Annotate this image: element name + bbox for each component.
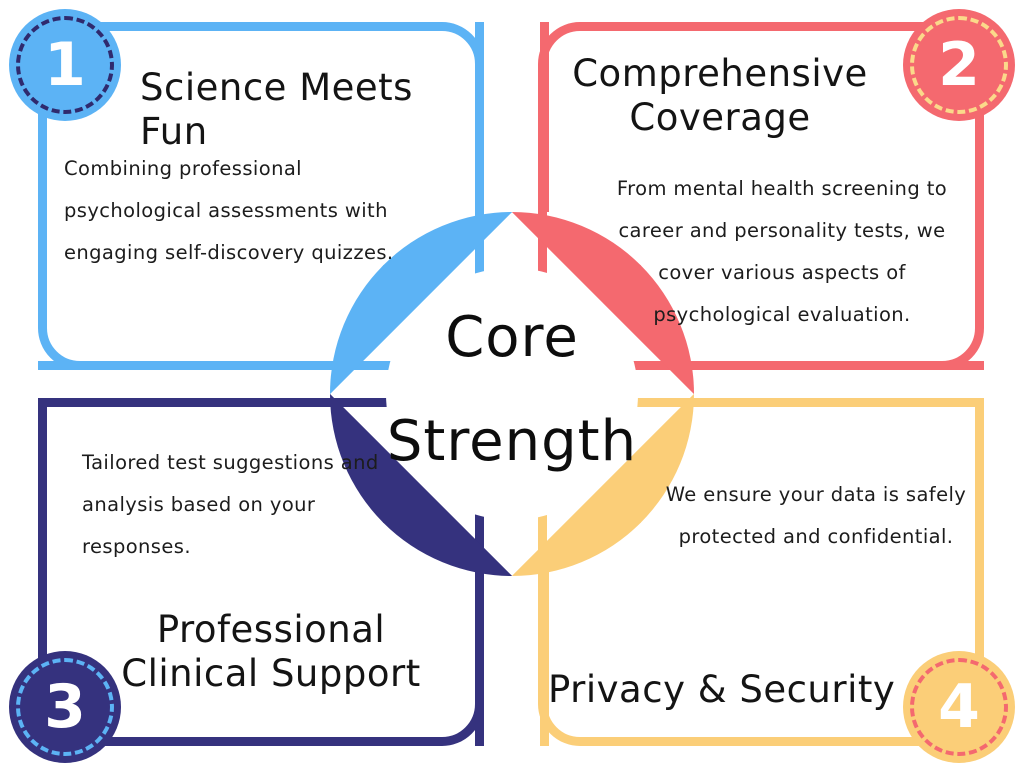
infographic-canvas: Science Meets Fun Combining professional…	[0, 0, 1024, 772]
quadrant-4-body: We ensure your data is safely protected …	[660, 474, 972, 558]
center-hub-line-2: Strength	[366, 390, 658, 494]
badge-1-number: 1	[44, 35, 86, 95]
center-hub-line-1: Core	[366, 286, 658, 390]
quadrant-1-body: Combining professional psychological ass…	[64, 148, 424, 274]
badge-4-number: 4	[938, 677, 980, 737]
center-hub-label: Core Strength	[366, 286, 658, 493]
badge-2-number: 2	[938, 35, 980, 95]
quadrant-4-title: Privacy & Security	[548, 668, 928, 712]
quadrant-3-title: Professional Clinical Support	[84, 608, 458, 695]
quadrant-1-title: Science Meets Fun	[140, 66, 490, 153]
badge-4[interactable]: 4	[903, 651, 1015, 763]
quadrant-3-body: Tailored test suggestions and analysis b…	[82, 442, 382, 568]
quadrant-2-title: Comprehensive Coverage	[540, 52, 900, 139]
badge-1[interactable]: 1	[9, 9, 121, 121]
badge-2[interactable]: 2	[903, 9, 1015, 121]
badge-3[interactable]: 3	[9, 651, 121, 763]
badge-3-number: 3	[44, 677, 86, 737]
